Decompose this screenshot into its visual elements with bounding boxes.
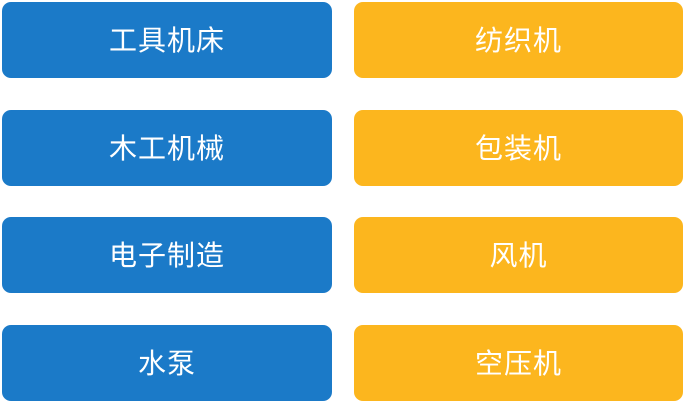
category-button-grid: 工具机床 木工机械 电子制造 水泵 纺织机 包装机 风机 空压机 [0,0,686,401]
category-button-label: 电子制造 [109,242,225,270]
category-button-machine-tools[interactable]: 工具机床 [2,2,332,78]
category-button-electronics-manufacturing[interactable]: 电子制造 [2,217,332,293]
category-button-fan[interactable]: 风机 [354,217,683,293]
category-button-label: 木工机械 [109,135,225,163]
category-button-textile-machine[interactable]: 纺织机 [354,2,683,78]
category-button-label: 空压机 [475,350,562,378]
category-button-packaging-machine[interactable]: 包装机 [354,110,683,186]
category-button-woodworking-machinery[interactable]: 木工机械 [2,110,332,186]
category-button-label: 工具机床 [109,27,225,55]
category-button-label: 水泵 [138,350,196,378]
category-button-water-pump[interactable]: 水泵 [2,325,332,401]
category-button-label: 包装机 [475,135,562,163]
category-button-label: 纺织机 [475,27,562,55]
category-button-label: 风机 [489,242,547,270]
category-button-air-compressor[interactable]: 空压机 [354,325,683,401]
